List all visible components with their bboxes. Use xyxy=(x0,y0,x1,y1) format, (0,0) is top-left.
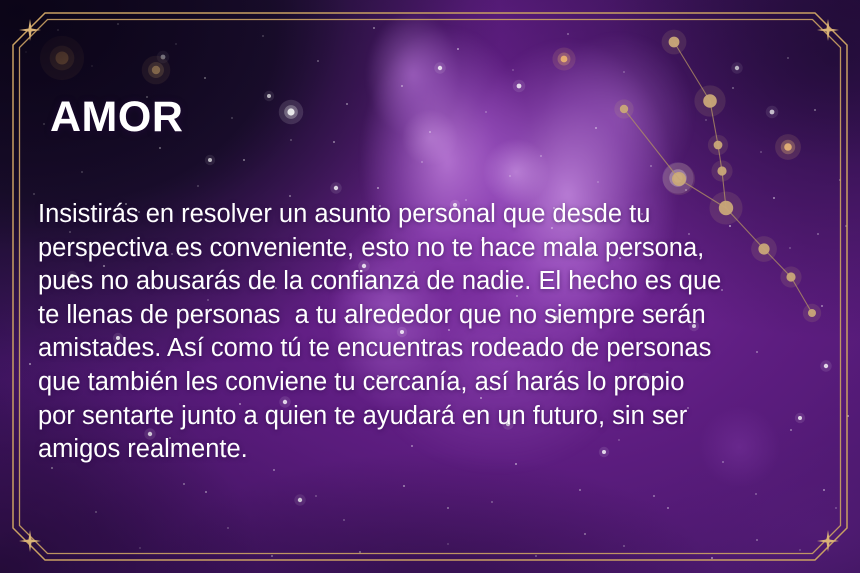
card-title: AMOR xyxy=(50,96,183,139)
horoscope-card: AMOR Insistirás en resolver un asunto pe… xyxy=(0,0,860,573)
body-text-line: te llenas de personas a tu alrededor que… xyxy=(38,299,838,333)
body-text-line: pues no abusarás de la confianza de nadi… xyxy=(38,265,838,299)
body-text-line: amistades. Así como tú te encuentras rod… xyxy=(38,332,838,366)
body-text-line: que también les conviene tu cercanía, as… xyxy=(38,366,838,400)
horoscope-body-text: Insistirás en resolver un asunto persona… xyxy=(38,198,838,467)
body-text-line: perspectiva es conveniente, esto no te h… xyxy=(38,232,838,266)
body-text-line: por sentarte junto a quien te ayudará en… xyxy=(38,400,838,434)
body-text-line: amigos realmente. xyxy=(38,433,838,467)
body-text-line: Insistirás en resolver un asunto persona… xyxy=(38,198,838,232)
card-content: AMOR Insistirás en resolver un asunto pe… xyxy=(38,0,828,573)
